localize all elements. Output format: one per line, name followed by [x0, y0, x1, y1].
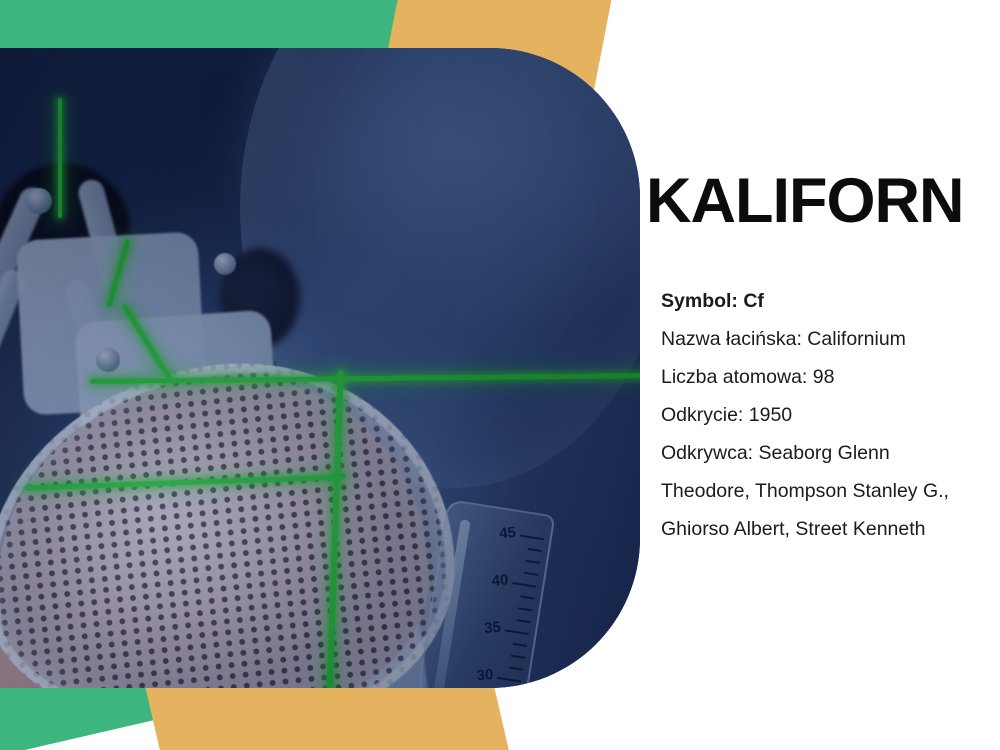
- detail-discovery-year: Odkrycie: 1950: [661, 396, 991, 434]
- page-title: KALIFORN: [646, 170, 963, 233]
- radiotherapy-photo: 45 40 35 30 25: [0, 48, 640, 688]
- detail-discoverer-2: Theodore, Thompson Stanley G.,: [661, 472, 991, 510]
- detail-symbol: Symbol: Cf: [661, 282, 991, 320]
- detail-latin-name: Nazwa łacińska: Californium: [661, 320, 991, 358]
- slide-canvas: 45 40 35 30 25 KALIFORN Symbol: Cf Nazwa…: [0, 0, 1000, 750]
- detail-discoverer-3: Ghiorso Albert, Street Kenneth: [661, 510, 991, 548]
- element-details: Symbol: Cf Nazwa łacińska: Californium L…: [661, 282, 991, 548]
- detail-discoverer-1: Odkrywca: Seaborg Glenn: [661, 434, 991, 472]
- photo-vignette-overlay: [0, 48, 640, 688]
- detail-atomic-number: Liczba atomowa: 98: [661, 358, 991, 396]
